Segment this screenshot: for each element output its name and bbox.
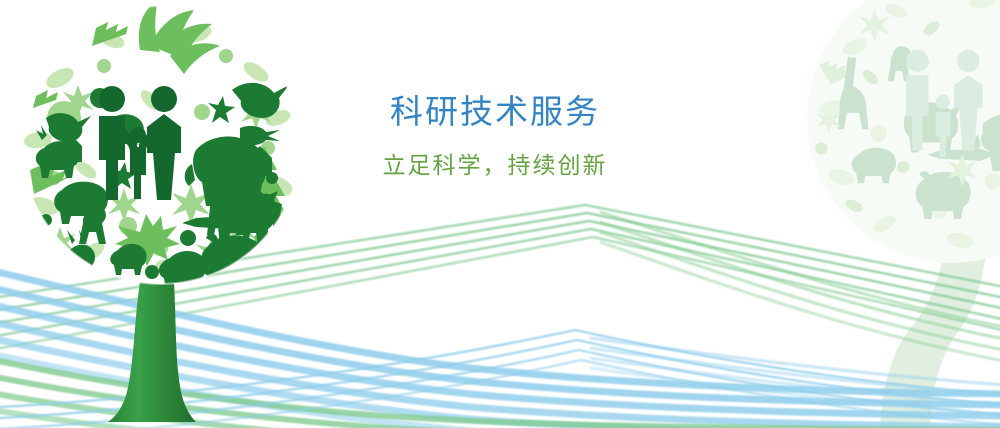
page-title: 科研技术服务 — [330, 92, 660, 132]
headline-block: 科研技术服务 立足科学，持续创新 — [330, 92, 660, 180]
hero-banner: 科研技术服务 立足科学，持续创新 — [0, 0, 1000, 428]
banner-text-layer: 科研技术服务 立足科学，持续创新 — [0, 0, 1000, 428]
page-subtitle: 立足科学，持续创新 — [330, 150, 660, 180]
